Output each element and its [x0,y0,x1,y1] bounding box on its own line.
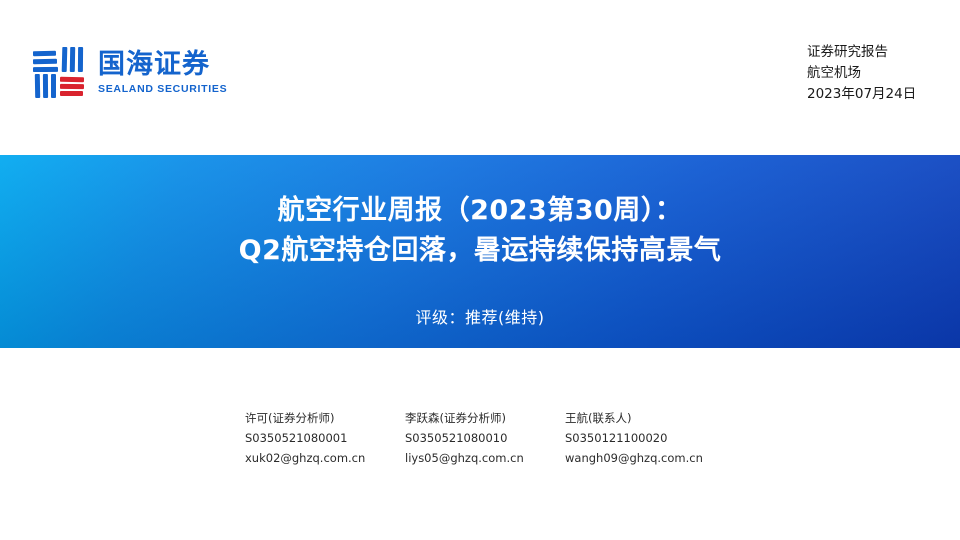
analyst-column: 许可(证券分析师) S0350521080001 xuk02@ghzq.com.… [245,408,405,468]
logo-quadrant-bottom-right [60,76,85,97]
analyst-column: 王航(联系人) S0350121100020 wangh09@ghzq.com.… [565,408,725,468]
analyst-license: S0350121100020 [565,428,725,448]
analyst-license: S0350521080010 [405,428,565,448]
analyst-email[interactable]: xuk02@ghzq.com.cn [245,448,405,468]
analyst-license: S0350521080001 [245,428,405,448]
page-title: 航空行业周报（2023第30周）： Q2航空持仓回落，暑运持续保持高景气 [0,191,960,271]
page-header: 国海证券 SEALAND SECURITIES 证券研究报告 航空机场 2023… [0,0,960,155]
company-logo: 国海证券 SEALAND SECURITIES [33,47,227,99]
sealand-pinwheel-logo-icon [33,47,85,99]
logo-quadrant-bottom-left [34,74,58,99]
company-logo-text: 国海证券 SEALAND SECURITIES [98,51,227,94]
report-date: 2023年07月24日 [807,84,916,105]
analyst-name: 许可(证券分析师) [245,408,405,428]
page-title-line-2: Q2航空持仓回落，暑运持续保持高景气 [0,231,960,271]
analyst-email[interactable]: wangh09@ghzq.com.cn [565,448,725,468]
report-type-label: 证券研究报告 [807,42,916,63]
header-meta: 证券研究报告 航空机场 2023年07月24日 [807,42,916,105]
page-title-line-1: 航空行业周报（2023第30周）： [0,191,960,231]
analyst-email[interactable]: liys05@ghzq.com.cn [405,448,565,468]
company-name-en: SEALAND SECURITIES [98,83,227,95]
analyst-name: 王航(联系人) [565,408,725,428]
logo-quadrant-top-right [61,47,84,73]
analyst-name: 李跃森(证券分析师) [405,408,565,428]
rating-label: 评级：推荐(维持) [0,304,960,328]
analyst-column: 李跃森(证券分析师) S0350521080010 liys05@ghzq.co… [405,408,565,468]
industry-label: 航空机场 [807,63,916,84]
analyst-list: 许可(证券分析师) S0350521080001 xuk02@ghzq.com.… [245,408,725,468]
title-banner: 航空行业周报（2023第30周）： Q2航空持仓回落，暑运持续保持高景气 评级：… [0,155,960,348]
logo-quadrant-top-left [33,49,58,72]
company-name-cn: 国海证券 [98,51,227,79]
